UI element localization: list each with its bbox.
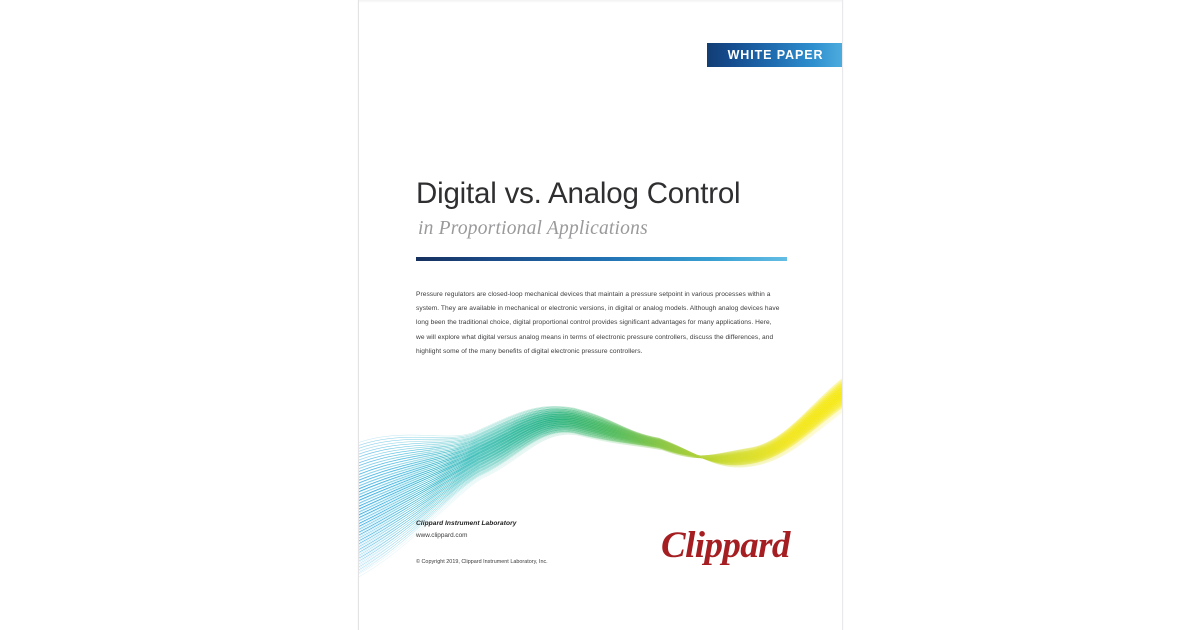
wave-strand: [359, 390, 843, 489]
wave-strand: [359, 381, 843, 516]
wave-strand: [359, 382, 843, 524]
wave-strand: [359, 389, 843, 491]
wave-strand: [359, 391, 843, 483]
wave-strand: [359, 375, 843, 542]
wave-strand: [359, 379, 843, 535]
wave-strand: [359, 391, 843, 468]
wave-strand: [359, 378, 843, 538]
wave-strand: [359, 387, 843, 486]
wave-strand: [359, 390, 843, 485]
wave-strand: [359, 394, 843, 464]
wave-strand: [359, 396, 843, 465]
wave-strand: [359, 388, 843, 494]
wave-strand: [359, 380, 843, 529]
clippard-logo: Clippard: [661, 527, 796, 569]
white-paper-banner-label: WHITE PAPER: [728, 49, 824, 62]
wave-strand: [359, 381, 843, 512]
wave-strand: [359, 384, 843, 501]
wave-strand: [359, 383, 843, 503]
wave-strand: [359, 382, 843, 520]
wave-strand: [359, 396, 843, 467]
footer-company-block: Clippard Instrument Laboratory www.clipp…: [416, 519, 516, 542]
wave-strand: [359, 386, 843, 492]
page-subtitle: in Proportional Applications: [418, 218, 796, 239]
wave-strand: [359, 381, 843, 527]
wave-strand: [359, 378, 843, 542]
white-paper-cover-page: WHITE PAPER Digital vs. Analog Control i…: [358, 0, 843, 630]
wave-strand: [359, 379, 843, 521]
wave-strand: [359, 397, 843, 467]
wave-strand: [359, 395, 843, 465]
wave-strand: [359, 386, 843, 503]
wave-strand: [359, 394, 843, 471]
wave-strand: [359, 387, 843, 500]
wave-strand: [359, 386, 843, 506]
footer-company-name: Clippard Instrument Laboratory: [416, 519, 516, 530]
wave-strand: [359, 379, 843, 525]
wave-strand: [359, 393, 843, 464]
wave-strand: [359, 395, 843, 465]
wave-strand: [359, 376, 843, 536]
wave-strand: [359, 389, 843, 477]
screenshot-viewport: WHITE PAPER Digital vs. Analog Control i…: [0, 0, 1200, 630]
wave-strand: [359, 398, 843, 468]
wave-strand: [359, 392, 843, 466]
white-paper-banner: WHITE PAPER: [707, 43, 843, 67]
page-top-edge: [359, 0, 842, 3]
wave-strand: [359, 390, 843, 474]
copyright-notice: © Copyright 2019, Clippard Instrument La…: [416, 559, 548, 565]
wave-strand: [359, 375, 843, 539]
wave-strand: [359, 380, 843, 533]
wave-strand: [359, 383, 843, 518]
wave-strand: [359, 392, 843, 476]
wave-strand: [359, 384, 843, 512]
wave-strand: [359, 393, 843, 464]
wave-strand: [359, 378, 843, 527]
wave-strand: [359, 383, 843, 507]
wave-strand: [359, 384, 843, 515]
wave-strand: [359, 385, 843, 509]
wave-strand: [359, 396, 843, 466]
wave-strand: [359, 392, 843, 480]
clippard-logo-wordmark: Clippard: [661, 525, 790, 566]
wave-strand: [359, 382, 843, 510]
wave-strand: [359, 395, 843, 466]
wave-strand: [359, 398, 843, 467]
wave-strand: [359, 389, 843, 481]
page-title: Digital vs. Analog Control: [416, 178, 796, 209]
wave-strand: [359, 380, 843, 518]
wave-strand: [359, 388, 843, 483]
wave-strand: [359, 387, 843, 489]
title-block: Digital vs. Analog Control in Proportion…: [416, 178, 796, 261]
wave-strand: [359, 391, 843, 472]
wave-strand: [359, 385, 843, 498]
wave-strand: [359, 377, 843, 533]
wave-strand: [359, 385, 843, 495]
wave-strand: [359, 393, 843, 474]
abstract-paragraph: Pressure regulators are closed-loop mech…: [416, 288, 782, 360]
title-divider-rule: [416, 257, 787, 261]
wave-strand: [359, 388, 843, 498]
wave-strand: [359, 377, 843, 530]
wave-strand: [359, 394, 843, 468]
footer-company-url[interactable]: www.clippard.com: [416, 531, 516, 542]
